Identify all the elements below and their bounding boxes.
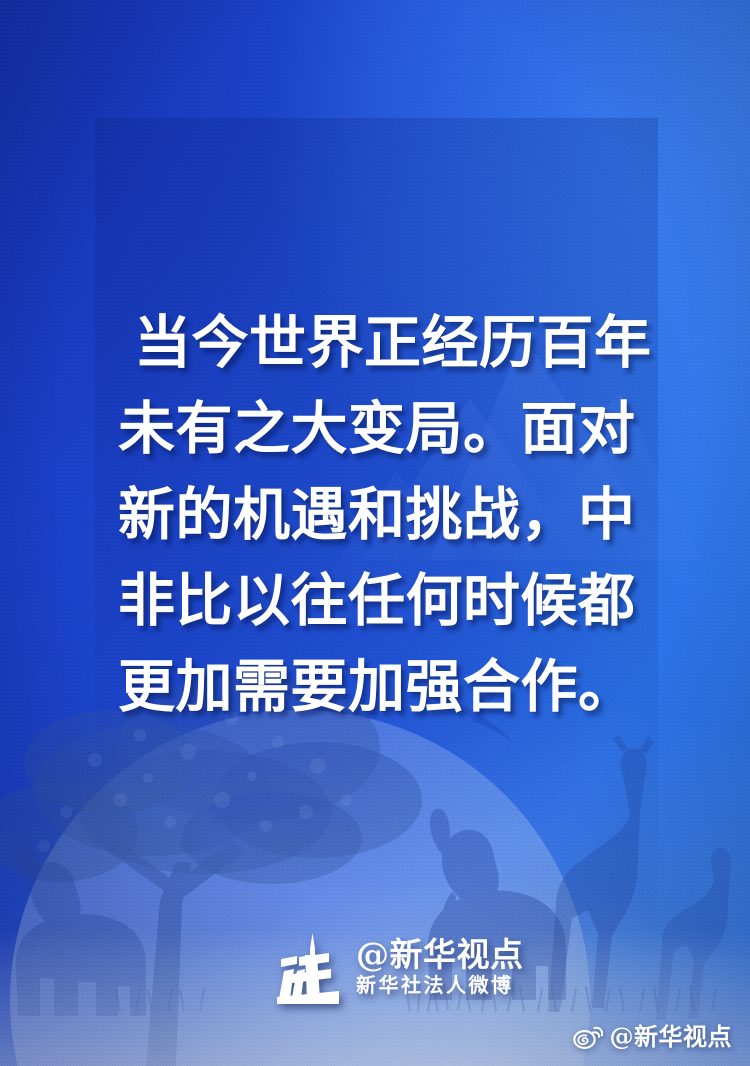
poster-canvas: 当今世界正经历百年未有之大变局。面对新的机遇和挑战，中非比以往任何时候都更加需要…: [0, 0, 750, 1066]
weibo-badge[interactable]: @新华视点: [573, 1024, 733, 1050]
logo-subtitle: 新华社法人微博: [356, 973, 524, 998]
xinhua-logo: @新华视点 新华社法人微博: [271, 931, 524, 1007]
weibo-handle: @新华视点: [610, 1024, 733, 1050]
xinhua-monogram-icon: [271, 931, 347, 1007]
logo-title: @新华视点: [356, 936, 524, 973]
weibo-eye-icon: [573, 1024, 603, 1050]
giraffe-small: [656, 848, 731, 1020]
xinhua-logo-text: @新华视点 新华社法人微博: [356, 931, 524, 998]
quote-text: 当今世界正经历百年未有之大变局。面对新的机遇和挑战，中非比以往任何时候都更加需要…: [118, 300, 678, 730]
